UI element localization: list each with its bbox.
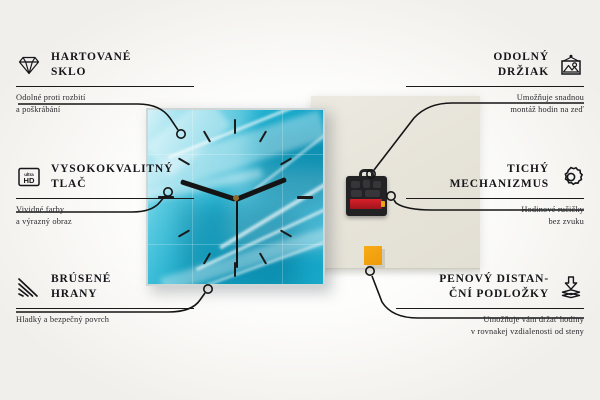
svg-text:HD: HD [24, 176, 35, 185]
desc-line-2: a poškrábání [16, 105, 60, 114]
feature-header: TICHÝ MECHANIZMUS [406, 162, 584, 193]
gear-icon [558, 165, 584, 189]
feature-title: PENOVÝ DISTAN- ČNÍ PODLOŽKY [396, 272, 549, 303]
feature-description: Umožňuje snadnou montáž hodin na zeď [406, 92, 584, 116]
desc-line-2: montáž hodin na zeď [510, 105, 584, 114]
ultra-hd-icon: ultra HD [16, 165, 42, 189]
feature-title: HARTOVANÉ SKLO [51, 50, 131, 81]
feature-divider [16, 308, 194, 309]
feature-tempered-glass: HARTOVANÉ SKLO Odolné proti rozbití a po… [16, 50, 194, 116]
title-line-1: ODOLNÝ [493, 51, 549, 63]
feature-divider [406, 198, 584, 199]
picture-frame-icon [558, 53, 584, 77]
feature-high-quality-print: ultra HD VYSOKOKVALITNÝ TLAČ Vividné far… [16, 162, 194, 228]
feature-description: Odolné proti rozbití a poškrábání [16, 92, 194, 116]
feature-divider [16, 198, 194, 199]
feature-durable-hanger: ODOLNÝ DRŽIAK Umožňuje snadnou montáž ho… [406, 50, 584, 116]
connector-right-1-endpoint [367, 170, 375, 178]
connector-right-3-endpoint [366, 267, 374, 275]
feature-title: ODOLNÝ DRŽIAK [406, 50, 549, 81]
feature-divider [396, 308, 584, 309]
title-line-2: SKLO [51, 66, 86, 78]
infographic-canvas: HARTOVANÉ SKLO Odolné proti rozbití a po… [0, 0, 600, 400]
title-line-2: HRANY [51, 288, 97, 300]
foam-pad-arrow-icon [558, 275, 584, 299]
desc-line-1: Odolné proti rozbití [16, 93, 86, 102]
title-line-2: DRŽIAK [498, 66, 549, 78]
title-line-1: HARTOVANÉ [51, 51, 131, 63]
desc-line-1: Vividné farby [16, 205, 64, 214]
title-line-2: MECHANIZMUS [450, 178, 549, 190]
desc-line-1: Umožňuje snadnou [517, 93, 584, 102]
title-line-1: VYSOKOKVALITNÝ [51, 163, 173, 175]
feature-header: PENOVÝ DISTAN- ČNÍ PODLOŽKY [396, 272, 584, 303]
feature-header: HARTOVANÉ SKLO [16, 50, 194, 81]
feature-description: Umožňuje vám držať hodiny v rovnakej vzd… [396, 314, 584, 338]
connector-left-1-endpoint [177, 130, 185, 138]
diamond-icon [16, 53, 42, 77]
title-line-2: ČNÍ PODLOŽKY [449, 288, 549, 300]
desc-line-1: Umožňuje vám držať hodiny [483, 315, 584, 324]
desc-line-1: Hladký a bezpečný povrch [16, 315, 109, 324]
desc-line-1: Hodinové ručičky [521, 205, 584, 214]
title-line-1: PENOVÝ DISTAN- [439, 273, 549, 285]
feature-header: BRÚSENÉ HRANY [16, 272, 194, 303]
title-line-1: TICHÝ [507, 163, 549, 175]
title-line-1: BRÚSENÉ [51, 273, 111, 285]
desc-line-2: a výrazný obraz [16, 217, 72, 226]
title-line-2: TLAČ [51, 178, 86, 190]
feature-header: ultra HD VYSOKOKVALITNÝ TLAČ [16, 162, 194, 193]
feature-silent-mechanism: TICHÝ MECHANIZMUS Hodinové ručičky bez z… [406, 162, 584, 228]
feature-title: TICHÝ MECHANIZMUS [406, 162, 549, 193]
feature-title: VYSOKOKVALITNÝ TLAČ [51, 162, 173, 193]
feature-ground-edges: BRÚSENÉ HRANY Hladký a bezpečný povrch [16, 272, 194, 326]
feature-divider [406, 86, 584, 87]
feature-title: BRÚSENÉ HRANY [51, 272, 111, 303]
connector-left-3-endpoint [204, 285, 212, 293]
hatch-lines-icon [16, 275, 42, 299]
feature-description: Hladký a bezpečný povrch [16, 314, 194, 326]
feature-header: ODOLNÝ DRŽIAK [406, 50, 584, 81]
feature-foam-spacers: PENOVÝ DISTAN- ČNÍ PODLOŽKY Umožňuje vám… [396, 272, 584, 338]
feature-description: Vividné farby a výrazný obraz [16, 204, 194, 228]
feature-divider [16, 86, 194, 87]
feature-description: Hodinové ručičky bez zvuku [406, 204, 584, 228]
connector-right-2-endpoint [387, 192, 395, 200]
desc-line-2: v rovnakej vzdialenosti od steny [471, 327, 584, 336]
desc-line-2: bez zvuku [548, 217, 584, 226]
